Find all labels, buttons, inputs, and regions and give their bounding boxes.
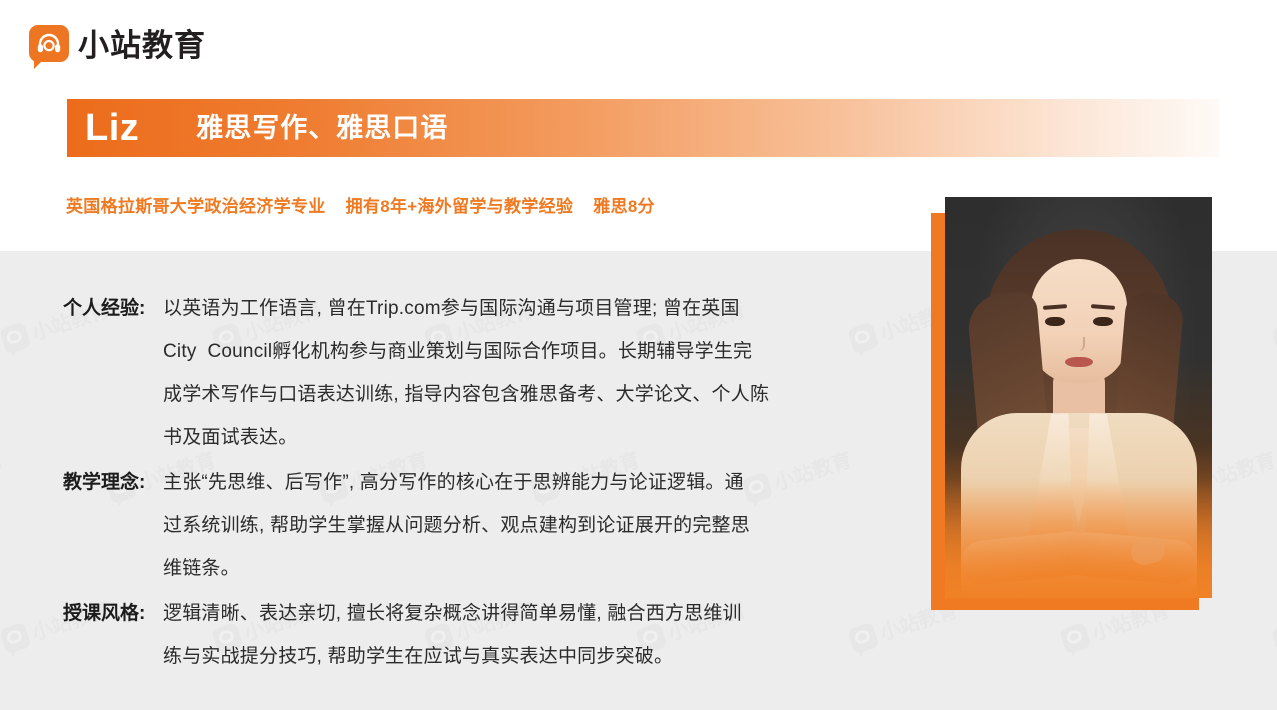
teacher-bio-sections: 个人经验:以英语为工作语言, 曾在Trip.com参与国际沟通与项目管理; 曾在… bbox=[63, 287, 863, 680]
watermark-badge-icon bbox=[1059, 621, 1092, 654]
bio-section-body: 以英语为工作语言, 曾在Trip.com参与国际沟通与项目管理; 曾在英国Cit… bbox=[163, 287, 863, 459]
watermark-badge-icon bbox=[0, 321, 31, 354]
bio-line: 过系统训练, 帮助学生掌握从问题分析、观点建构到论证展开的完整思 bbox=[163, 504, 863, 547]
bio-section-body: 逻辑清晰、表达亲切, 擅长将复杂概念讲得简单易懂, 融合西方思维训练与实战提分技… bbox=[163, 592, 863, 678]
bio-line: 维链条。 bbox=[163, 547, 863, 590]
watermark-badge-icon bbox=[0, 621, 31, 654]
teacher-name: Liz bbox=[85, 109, 139, 147]
watermark-logo: 小站教育 bbox=[1270, 594, 1277, 656]
bio-section: 教学理念:主张“先思维、后写作”, 高分写作的核心在于思辨能力与论证逻辑。通过系… bbox=[63, 461, 863, 590]
brand-logo: 小站教育 bbox=[29, 25, 206, 65]
bio-section: 个人经验:以英语为工作语言, 曾在Trip.com参与国际沟通与项目管理; 曾在… bbox=[63, 287, 863, 459]
teacher-portrait bbox=[931, 197, 1216, 613]
teacher-credentials: 英国格拉斯哥大学政治经济学专业 拥有8年+海外留学与教学经验 雅思8分 bbox=[66, 192, 655, 217]
bio-line: 以英语为工作语言, 曾在Trip.com参与国际沟通与项目管理; 曾在英国 bbox=[163, 287, 863, 330]
bio-line: 练与实战提分技巧, 帮助学生在应试与真实表达中同步突破。 bbox=[163, 635, 863, 678]
bio-line: 成学术写作与口语表达训练, 指导内容包含雅思备考、大学论文、个人陈 bbox=[163, 373, 863, 416]
bio-line: 主张“先思维、后写作”, 高分写作的核心在于思辨能力与论证逻辑。通 bbox=[163, 461, 863, 504]
watermark-logo: 小站教育 bbox=[1270, 294, 1277, 356]
bio-line: City Council孵化机构参与商业策划与国际合作项目。长期辅导学生完 bbox=[163, 330, 863, 373]
bio-section: 授课风格:逻辑清晰、表达亲切, 擅长将复杂概念讲得简单易懂, 融合西方思维训练与… bbox=[63, 592, 863, 678]
bio-section-label: 个人经验: bbox=[63, 287, 159, 330]
bio-section-body: 主张“先思维、后写作”, 高分写作的核心在于思辨能力与论证逻辑。通过系统训练, … bbox=[163, 461, 863, 590]
watermark-text: 小站教育 bbox=[0, 444, 7, 496]
brand-name: 小站教育 bbox=[78, 30, 206, 61]
watermark-logo: 小站教育 bbox=[0, 444, 7, 506]
bio-line: 逻辑清晰、表达亲切, 擅长将复杂概念讲得简单易懂, 融合西方思维训 bbox=[163, 592, 863, 635]
bio-section-label: 教学理念: bbox=[63, 461, 159, 504]
bio-section-label: 授课风格: bbox=[63, 592, 159, 635]
watermark-badge-icon bbox=[1271, 321, 1277, 354]
headset-speech-bubble-icon bbox=[29, 25, 69, 65]
portrait-photo-image bbox=[945, 197, 1212, 598]
bio-line: 书及面试表达。 bbox=[163, 416, 863, 459]
teacher-subjects: 雅思写作、雅思口语 bbox=[196, 115, 448, 142]
watermark-badge-icon bbox=[1271, 621, 1277, 654]
teacher-banner: Liz 雅思写作、雅思口语 bbox=[67, 99, 1219, 157]
